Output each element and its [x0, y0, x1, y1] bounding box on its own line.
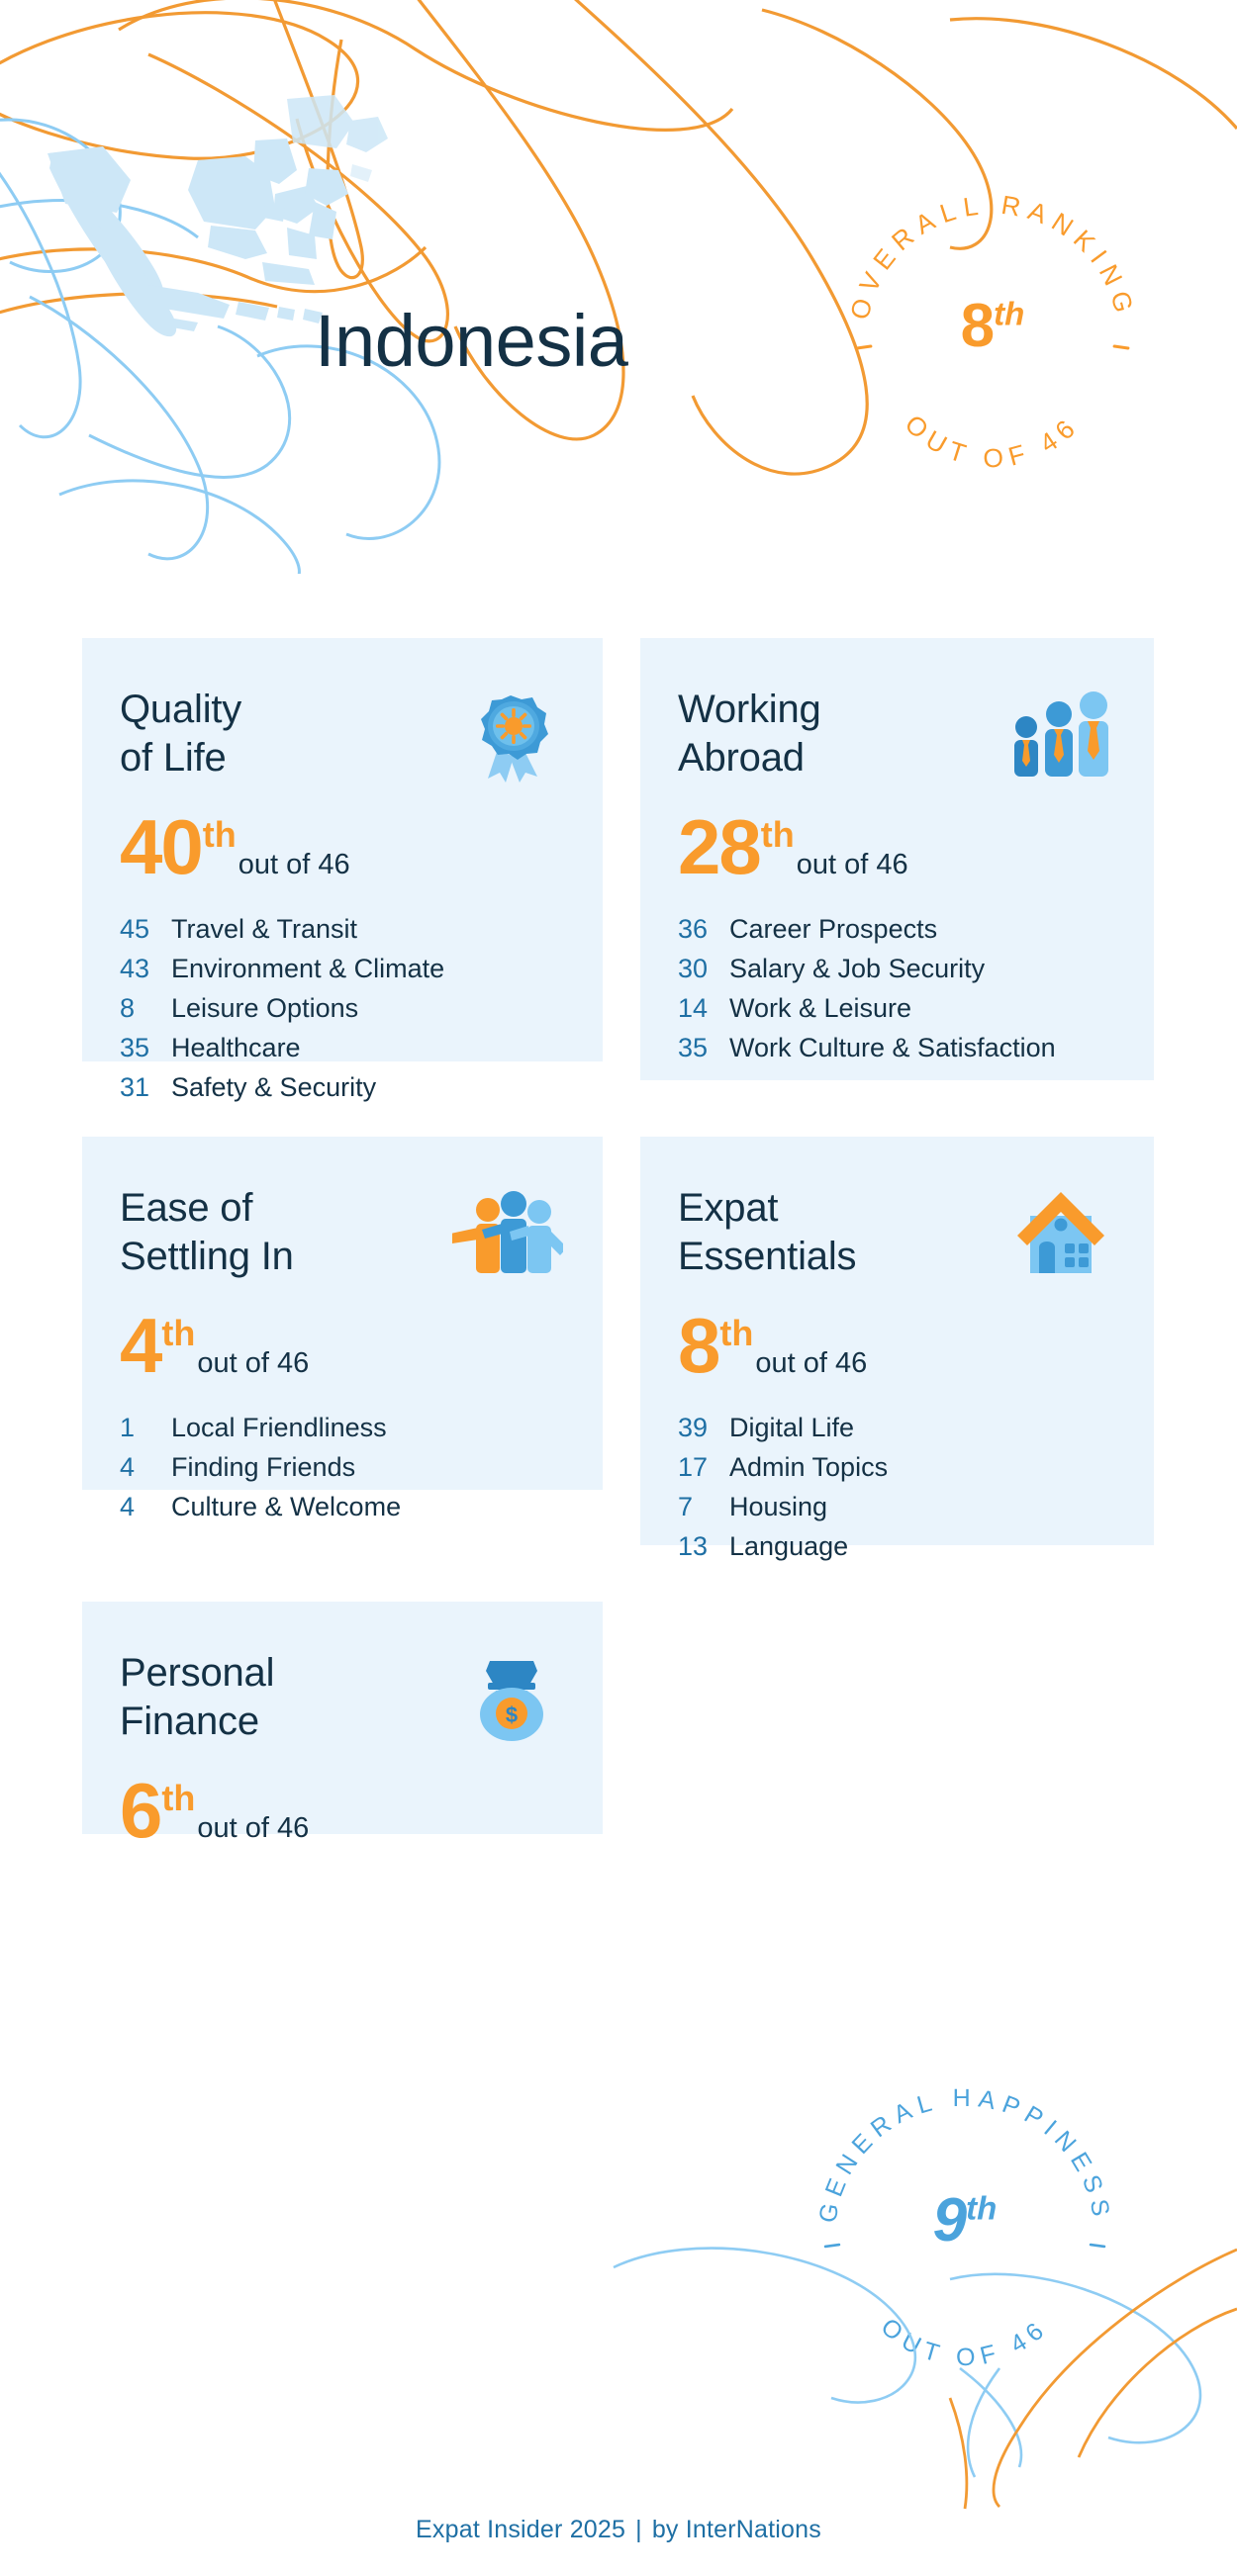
subcategory-label: Work Culture & Satisfaction	[729, 1032, 1056, 1064]
overall-badge-center: 8th	[829, 163, 1156, 490]
subcategory-rank: 1	[120, 1412, 171, 1444]
subcategory-rank: 13	[678, 1530, 729, 1563]
subcategory-rank: 45	[120, 913, 171, 946]
list-item: 35 Work Culture & Satisfaction	[678, 1032, 1114, 1064]
list-item: 8 Leisure Options	[120, 992, 563, 1025]
list-item: 7 Housing	[678, 1491, 1114, 1523]
business-people-icon	[1003, 688, 1114, 782]
overall-ranking-badge: OVERALL RANKING OUT OF 46 8th	[829, 163, 1156, 490]
subcategory-rank: 14	[678, 992, 729, 1025]
subcategory-rank: 8	[120, 992, 171, 1025]
list-item: 39 Digital Life	[678, 1412, 1114, 1444]
list-item: 45 Travel & Transit	[120, 913, 563, 946]
subcategory-label: Finding Friends	[171, 1451, 355, 1484]
page-title: Indonesia	[315, 305, 627, 378]
subcategory-label: Admin Topics	[729, 1451, 888, 1484]
subcategory-label: Local Friendliness	[171, 1412, 387, 1444]
card-rank: 4 th out of 46	[120, 1311, 563, 1382]
subcategory-list: 39 Digital Life 17 Admin Topics 7 Housin…	[678, 1412, 1114, 1563]
card-header: Qualityof Life	[120, 686, 563, 788]
indonesia-map-shape	[48, 138, 348, 336]
card-rank-number: 28	[678, 812, 760, 883]
subcategory-rank: 36	[678, 913, 729, 946]
card-rank-number: 6	[120, 1776, 160, 1847]
card-rank: 8 th out of 46	[678, 1311, 1114, 1382]
subcategory-list: 36 Career Prospects 30 Salary & Job Secu…	[678, 913, 1114, 1064]
subcategory-label: Healthcare	[171, 1032, 301, 1064]
card-header: WorkingAbroad	[678, 686, 1114, 788]
footer-separator: |	[635, 2516, 642, 2543]
card-rank-ordinal: th	[203, 814, 237, 856]
card-rank: 40 th out of 46	[120, 812, 563, 883]
card-header: ExpatEssentials	[678, 1184, 1114, 1287]
card-working-abroad[interactable]: WorkingAbroad	[640, 638, 1154, 1080]
list-item: 4 Finding Friends	[120, 1451, 563, 1484]
category-cards: Qualityof Life	[0, 638, 1237, 1834]
header: Indonesia OVERALL RANKING OUT OF 46	[0, 0, 1237, 574]
subcategory-rank: 31	[120, 1071, 171, 1104]
subcategory-rank: 43	[120, 953, 171, 985]
list-item: 1 Local Friendliness	[120, 1412, 563, 1444]
card-rank-number: 8	[678, 1311, 718, 1382]
list-item: 13 Language	[678, 1530, 1114, 1563]
subcategory-label: Safety & Security	[171, 1071, 376, 1104]
subcategory-label: Career Prospects	[729, 913, 937, 946]
card-rank-number: 4	[120, 1311, 160, 1382]
card-rank-outof: out of 46	[755, 1347, 867, 1380]
subcategory-label: Leisure Options	[171, 992, 358, 1025]
subcategory-label: Culture & Welcome	[171, 1491, 401, 1523]
happiness-badge-center: 9th	[802, 2058, 1128, 2384]
subcategory-label: Travel & Transit	[171, 913, 357, 946]
card-rank-outof: out of 46	[797, 849, 908, 881]
list-item: 17 Admin Topics	[678, 1451, 1114, 1484]
card-rank-number: 40	[120, 812, 202, 883]
card-title: Ease ofSettling In	[120, 1184, 446, 1281]
footer-report: Expat Insider 2025	[416, 2516, 625, 2543]
money-bag-icon: $	[452, 1651, 563, 1746]
card-expat-essentials[interactable]: ExpatEssentials	[640, 1137, 1154, 1545]
subcategory-list: 45 Travel & Transit 43 Environment & Cli…	[120, 913, 563, 1104]
card-title: Qualityof Life	[120, 686, 446, 782]
card-row-1: Qualityof Life	[0, 638, 1237, 1080]
subcategory-rank: 7	[678, 1491, 729, 1523]
card-rank-ordinal: th	[719, 1313, 753, 1354]
subcategory-label: Environment & Climate	[171, 953, 444, 985]
general-happiness-badge: GENERAL HAPPINESS OUT OF 46 9th	[802, 2058, 1128, 2384]
card-title: PersonalFinance	[120, 1649, 446, 1746]
award-ribbon-icon	[452, 688, 563, 782]
list-item: 14 Work & Leisure	[678, 992, 1114, 1025]
list-item: 31 Safety & Security	[120, 1071, 563, 1104]
card-personal-finance[interactable]: PersonalFinance $ 6 th	[82, 1602, 603, 1834]
list-item: 30 Salary & Job Security	[678, 953, 1114, 985]
footer-publisher: by InterNations	[652, 2516, 821, 2543]
card-rank: 6 th out of 46	[120, 1776, 563, 1847]
overall-badge-rank: 8th	[961, 296, 1025, 357]
card-row-2: Ease ofSettling In	[0, 1137, 1237, 1545]
card-rank: 28 th out of 46	[678, 812, 1114, 883]
card-rank-outof: out of 46	[238, 849, 350, 881]
subcategory-rank: 4	[120, 1451, 171, 1484]
house-icon	[1003, 1186, 1114, 1281]
card-header: PersonalFinance $	[120, 1649, 563, 1752]
subcategory-rank: 17	[678, 1451, 729, 1484]
card-rank-ordinal: th	[761, 814, 795, 856]
svg-text:$: $	[506, 1702, 518, 1727]
subcategory-rank: 4	[120, 1491, 171, 1523]
list-item: 36 Career Prospects	[678, 913, 1114, 946]
card-rank-outof: out of 46	[197, 1812, 309, 1845]
card-rank-outof: out of 46	[197, 1347, 309, 1380]
subcategory-rank: 30	[678, 953, 729, 985]
list-item: 35 Healthcare	[120, 1032, 563, 1064]
subcategory-label: Salary & Job Security	[729, 953, 985, 985]
card-rank-ordinal: th	[161, 1778, 195, 1819]
subcategory-rank: 35	[678, 1032, 729, 1064]
friends-group-icon	[452, 1186, 563, 1281]
card-title: WorkingAbroad	[678, 686, 1004, 782]
happiness-badge-rank: 9th	[933, 2190, 998, 2252]
subcategory-rank: 39	[678, 1412, 729, 1444]
subcategory-list: 1 Local Friendliness 4 Finding Friends 4…	[120, 1412, 563, 1523]
subcategory-label: Housing	[729, 1491, 827, 1523]
infographic-page: Indonesia OVERALL RANKING OUT OF 46	[0, 0, 1237, 2576]
subcategory-label: Language	[729, 1530, 848, 1563]
card-rank-ordinal: th	[161, 1313, 195, 1354]
list-item: 4 Culture & Welcome	[120, 1491, 563, 1523]
subcategory-label: Work & Leisure	[729, 992, 911, 1025]
subcategory-label: Digital Life	[729, 1412, 854, 1444]
card-row-3: PersonalFinance $ 6 th	[0, 1602, 1237, 1834]
card-ease-of-settling-in[interactable]: Ease ofSettling In	[82, 1137, 603, 1490]
footer: Expat Insider 2025|by InterNations	[0, 2516, 1237, 2544]
subcategory-rank: 35	[120, 1032, 171, 1064]
card-header: Ease ofSettling In	[120, 1184, 563, 1287]
card-title: ExpatEssentials	[678, 1184, 1004, 1281]
list-item: 43 Environment & Climate	[120, 953, 563, 985]
card-quality-of-life[interactable]: Qualityof Life	[82, 638, 603, 1061]
